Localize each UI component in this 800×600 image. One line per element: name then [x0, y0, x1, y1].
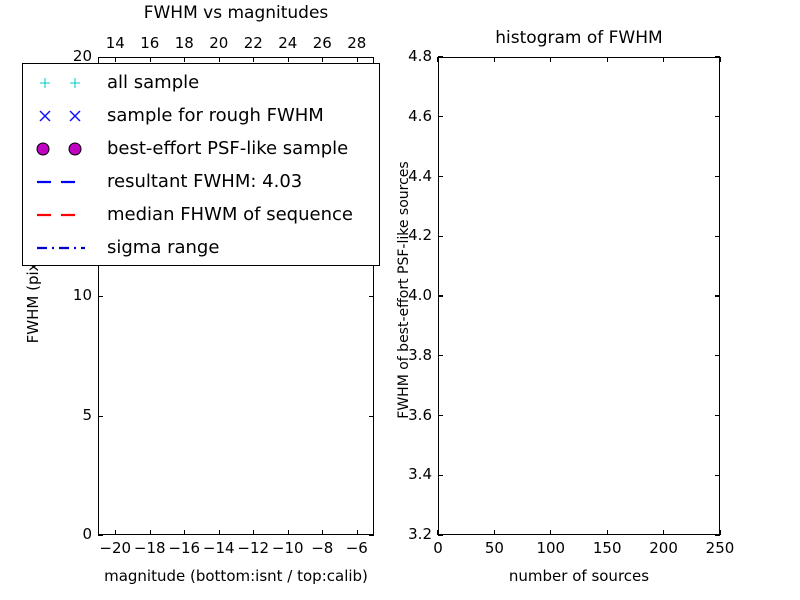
right-ytick-right-0	[715, 534, 720, 535]
left-xtick-top-0	[115, 57, 116, 62]
left-xtick-bottom-0	[115, 530, 116, 535]
left-xtick-bottom-3	[219, 530, 220, 535]
left-xtick-top-4	[253, 57, 254, 62]
left-xtick-top-3	[219, 57, 220, 62]
right-xtick-top-2	[550, 57, 551, 62]
left-xtick-bottom-7	[357, 530, 358, 535]
legend-label-5: sigma range	[107, 237, 219, 258]
left-xtick-bottom-4	[253, 530, 254, 535]
right-ytick-2	[438, 415, 443, 416]
right-ytick-right-2	[715, 415, 720, 416]
right-xticklabel-4: 200	[642, 539, 686, 557]
right-ytick-0	[438, 534, 443, 535]
legend-marker-plus-icon	[23, 66, 107, 99]
left-ytick-1	[98, 416, 103, 417]
left-ytick-4	[98, 57, 103, 58]
left-panel-xlabel: magnitude (bottom:isnt / top:calib)	[98, 567, 374, 585]
legend-box: all samplesample for rough FWHMbest-effo…	[22, 63, 380, 266]
right-ytick-right-7	[715, 116, 720, 117]
left-xticklabel-top-7: 28	[335, 34, 379, 52]
right-ytick-right-6	[715, 176, 720, 177]
left-xtick-top-1	[150, 57, 151, 62]
left-yticklabel-2: 10	[48, 286, 92, 304]
right-xtick-top-1	[494, 57, 495, 62]
left-xtick-top-6	[322, 57, 323, 62]
left-xtick-bottom-6	[322, 530, 323, 535]
left-yticklabel-1: 5	[48, 406, 92, 424]
left-xticklabel-bottom-7: −6	[335, 539, 379, 557]
right-xticklabel-3: 150	[585, 539, 629, 557]
legend-item-2: best-effort PSF-like sample	[23, 132, 379, 165]
right-xtick-bottom-3	[607, 530, 608, 535]
legend-item-1: sample for rough FWHM	[23, 99, 379, 132]
right-xticklabel-1: 50	[472, 539, 516, 557]
left-ytick-right-2	[369, 296, 374, 297]
legend-label-2: best-effort PSF-like sample	[107, 138, 348, 159]
left-ytick-right-4	[369, 57, 374, 58]
right-ytick-right-3	[715, 355, 720, 356]
right-xtick-bottom-1	[494, 530, 495, 535]
legend-label-4: median FHWM of sequence	[107, 204, 353, 225]
right-ytick-right-1	[715, 475, 720, 476]
right-xticklabel-2: 100	[529, 539, 573, 557]
legend-marker-circle-icon	[23, 132, 107, 165]
right-xticklabel-5: 250	[698, 539, 742, 557]
left-ytick-right-0	[369, 535, 374, 536]
right-xtick-top-3	[607, 57, 608, 62]
right-ytick-3	[438, 355, 443, 356]
figure-canvas: FWHM vs magnitudes 1416182022242628 −20−…	[0, 0, 800, 600]
right-yticklabel-0: 3.2	[386, 525, 432, 543]
right-panel-xlabel: number of sources	[438, 567, 720, 585]
right-ytick-right-8	[715, 56, 720, 57]
right-ytick-4	[438, 295, 443, 296]
legend-label-1: sample for rough FWHM	[107, 105, 324, 126]
right-xtick-top-0	[437, 57, 438, 62]
left-xtick-top-7	[357, 57, 358, 62]
right-panel-title: histogram of FWHM	[438, 28, 720, 48]
left-ytick-right-1	[369, 416, 374, 417]
right-ytick-6	[438, 176, 443, 177]
legend-label-0: all sample	[107, 72, 199, 93]
left-ytick-2	[98, 296, 103, 297]
legend-item-4: median FHWM of sequence	[23, 198, 379, 231]
right-ytick-7	[438, 116, 443, 117]
left-xtick-bottom-1	[150, 530, 151, 535]
left-yticklabel-0: 0	[48, 525, 92, 543]
right-xtick-top-4	[663, 57, 664, 62]
legend-marker-dashed-icon	[23, 165, 107, 198]
right-panel-ylabel: FWHM of best-effort PSF-like sources	[396, 60, 412, 520]
right-xtick-bottom-4	[663, 530, 664, 535]
right-ytick-5	[438, 236, 443, 237]
left-panel-title: FWHM vs magnitudes	[98, 3, 374, 23]
legend-item-0: all sample	[23, 66, 379, 99]
right-xtick-bottom-2	[550, 530, 551, 535]
right-ytick-right-5	[715, 236, 720, 237]
legend-item-3: resultant FWHM: 4.03	[23, 165, 379, 198]
right-xtick-top-5	[719, 57, 720, 62]
legend-marker-dashed-icon	[23, 198, 107, 231]
right-ytick-8	[438, 56, 443, 57]
right-ytick-1	[438, 475, 443, 476]
legend-item-5: sigma range	[23, 231, 379, 264]
legend-marker-dashdot-icon	[23, 231, 107, 264]
left-xtick-top-2	[184, 57, 185, 62]
legend-label-3: resultant FWHM: 4.03	[107, 171, 302, 192]
right-ytick-right-4	[715, 295, 720, 296]
right-panel-axes-frame	[438, 57, 720, 535]
left-xtick-bottom-2	[184, 530, 185, 535]
left-xtick-bottom-5	[288, 530, 289, 535]
legend-marker-cross-icon	[23, 99, 107, 132]
left-ytick-0	[98, 535, 103, 536]
left-xtick-top-5	[288, 57, 289, 62]
